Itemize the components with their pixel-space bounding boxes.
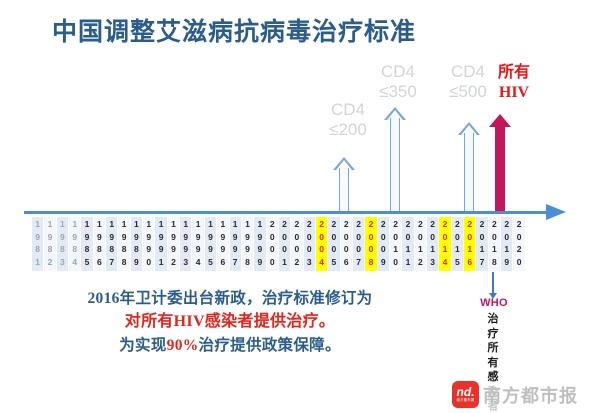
year-digit: 2 bbox=[430, 218, 435, 231]
timeline-year-1986: 1986 bbox=[94, 217, 106, 271]
year-digit: 2 bbox=[295, 218, 300, 231]
year-digit: 8 bbox=[122, 256, 127, 269]
year-digit: 1 bbox=[233, 218, 238, 231]
year-digit: 8 bbox=[97, 243, 102, 256]
arrow-shaft bbox=[390, 118, 400, 214]
year-digit: 2 bbox=[467, 218, 472, 231]
timeline-year-1994: 1994 bbox=[192, 217, 204, 271]
year-digit: 2 bbox=[171, 256, 176, 269]
slide-canvas: 中国调整艾滋病抗病毒治疗标准 CD4 ≤200 CD4 ≤350 CD4 ≤50… bbox=[0, 0, 600, 413]
year-digit: 9 bbox=[146, 243, 151, 256]
year-digit: 3 bbox=[307, 256, 312, 269]
year-digit: 0 bbox=[369, 243, 374, 256]
timeline-year-2019: 2019 bbox=[501, 217, 513, 271]
year-digit: 2 bbox=[406, 218, 411, 231]
year-digit: 0 bbox=[517, 231, 522, 244]
timeline-year-1990: 1990 bbox=[143, 217, 155, 271]
logo-subtext: 南方都市报 bbox=[457, 398, 475, 403]
year-digit: 8 bbox=[109, 243, 114, 256]
timeline-year-1995: 1995 bbox=[205, 217, 217, 271]
timeline-year-2017: 2017 bbox=[476, 217, 488, 271]
year-digit: 6 bbox=[344, 256, 349, 269]
year-digit: 0 bbox=[455, 231, 460, 244]
timeline-year-1982: 1982 bbox=[44, 217, 56, 271]
year-digit: 2 bbox=[517, 243, 522, 256]
year-digit: 9 bbox=[134, 256, 139, 269]
year-digit: 2 bbox=[319, 218, 324, 231]
milestone-label-2014: CD4 ≤500 bbox=[446, 62, 490, 102]
year-digit: 8 bbox=[134, 243, 139, 256]
year-digit: 0 bbox=[369, 231, 374, 244]
timeline-year-1993: 1993 bbox=[180, 217, 192, 271]
year-digit: 4 bbox=[319, 256, 324, 269]
year-digit: 3 bbox=[60, 256, 65, 269]
milestone-label-2016: 所有 HIV bbox=[492, 63, 536, 103]
timeline-year-1981: 1981 bbox=[32, 217, 44, 271]
year-digit: 0 bbox=[307, 231, 312, 244]
year-digit: 9 bbox=[233, 231, 238, 244]
year-digit: 7 bbox=[356, 256, 361, 269]
arrow-shaft bbox=[339, 168, 349, 214]
year-digit: 0 bbox=[295, 243, 300, 256]
year-digit: 8 bbox=[492, 256, 497, 269]
year-digit: 9 bbox=[159, 243, 164, 256]
caption-line-3-post: 治疗提供政策保障。 bbox=[199, 337, 341, 354]
year-digit: 1 bbox=[282, 256, 287, 269]
year-digit: 1 bbox=[171, 218, 176, 231]
year-digit: 9 bbox=[208, 243, 213, 256]
timeline-year-1989: 1989 bbox=[131, 217, 143, 271]
year-digit: 4 bbox=[443, 256, 448, 269]
year-digit: 0 bbox=[282, 243, 287, 256]
year-digit: 0 bbox=[282, 231, 287, 244]
year-digit: 9 bbox=[146, 231, 151, 244]
year-digit: 1 bbox=[35, 256, 40, 269]
timeline: 1981198219831984198519861987198819891990… bbox=[24, 211, 576, 273]
year-digit: 1 bbox=[122, 218, 127, 231]
year-digit: 2 bbox=[504, 218, 509, 231]
timeline-year-2016: 2016 bbox=[464, 217, 476, 271]
year-digit: 2 bbox=[307, 218, 312, 231]
year-digit: 0 bbox=[270, 243, 275, 256]
year-digit: 2 bbox=[356, 218, 361, 231]
year-digit: 1 bbox=[60, 218, 65, 231]
year-digit: 9 bbox=[381, 256, 386, 269]
year-digit: 1 bbox=[97, 218, 102, 231]
year-digit: 8 bbox=[48, 243, 53, 256]
year-digit: 1 bbox=[183, 218, 188, 231]
year-digit: 0 bbox=[295, 231, 300, 244]
year-digit: 0 bbox=[443, 231, 448, 244]
who-vertical-char: 所 bbox=[479, 341, 507, 356]
year-digit: 9 bbox=[60, 231, 65, 244]
year-digit: 3 bbox=[430, 256, 435, 269]
who-label: WHO bbox=[474, 297, 514, 309]
timeline-year-1991: 1991 bbox=[155, 217, 167, 271]
year-digit: 0 bbox=[319, 243, 324, 256]
timeline-year-2002: 2002 bbox=[291, 217, 303, 271]
year-digit: 7 bbox=[480, 256, 485, 269]
year-digit: 9 bbox=[122, 231, 127, 244]
timeline-year-2009: 2009 bbox=[378, 217, 390, 271]
year-digit: 6 bbox=[220, 256, 225, 269]
nandu-logo-icon: nd. 南方都市报 bbox=[452, 381, 479, 408]
year-digit: 1 bbox=[443, 243, 448, 256]
timeline-year-2001: 2001 bbox=[279, 217, 291, 271]
arrow-shaft bbox=[464, 133, 474, 214]
milestone-label-2008: CD4 ≤350 bbox=[376, 62, 420, 102]
year-digit: 0 bbox=[406, 231, 411, 244]
year-digit: 0 bbox=[146, 256, 151, 269]
year-digit: 9 bbox=[171, 243, 176, 256]
year-digit: 1 bbox=[406, 243, 411, 256]
year-digit: 9 bbox=[134, 231, 139, 244]
year-digit: 9 bbox=[196, 243, 201, 256]
timeline-year-2020: 2020 bbox=[513, 217, 525, 271]
year-digit: 0 bbox=[418, 231, 423, 244]
timeline-year-2007: 2007 bbox=[353, 217, 365, 271]
year-digit: 7 bbox=[233, 256, 238, 269]
year-digit: 9 bbox=[220, 231, 225, 244]
timeline-year-2014: 2014 bbox=[439, 217, 451, 271]
year-digit: 1 bbox=[48, 218, 53, 231]
year-digit: 0 bbox=[344, 243, 349, 256]
timeline-year-2008: 2008 bbox=[365, 217, 377, 271]
year-digit: 1 bbox=[480, 243, 485, 256]
year-digit: 1 bbox=[467, 243, 472, 256]
year-digit: 8 bbox=[369, 256, 374, 269]
year-digit: 1 bbox=[393, 243, 398, 256]
year-digit: 9 bbox=[220, 243, 225, 256]
year-digit: 2 bbox=[48, 256, 53, 269]
timeline-year-1985: 1985 bbox=[81, 217, 93, 271]
year-digit: 2 bbox=[344, 218, 349, 231]
year-digit: 0 bbox=[504, 231, 509, 244]
year-digit: 2 bbox=[418, 256, 423, 269]
year-digit: 8 bbox=[122, 243, 127, 256]
year-digit: 9 bbox=[233, 243, 238, 256]
year-digit: 1 bbox=[159, 256, 164, 269]
year-digit: 1 bbox=[257, 218, 262, 231]
year-digit: 2 bbox=[282, 218, 287, 231]
year-digit: 9 bbox=[159, 231, 164, 244]
year-digit: 1 bbox=[196, 218, 201, 231]
who-vertical-char: 有 bbox=[479, 356, 507, 371]
year-digit: 1 bbox=[159, 218, 164, 231]
year-digit: 9 bbox=[208, 231, 213, 244]
year-digit: 0 bbox=[332, 231, 337, 244]
timeline-year-1987: 1987 bbox=[106, 217, 118, 271]
year-digit: 9 bbox=[35, 231, 40, 244]
timeline-axis bbox=[24, 211, 549, 214]
caption-line-2: 对所有HIV感染者提供治疗。 bbox=[0, 310, 460, 333]
who-vertical-char: 治 bbox=[479, 312, 507, 327]
year-digit: 1 bbox=[504, 243, 509, 256]
timeline-year-1999: 1999 bbox=[254, 217, 266, 271]
year-digit: 8 bbox=[60, 243, 65, 256]
year-digit: 0 bbox=[319, 231, 324, 244]
caption-block: 2016年卫计委出台新政，治疗标准修订为 对所有HIV感染者提供治疗。 为实现9… bbox=[0, 288, 460, 358]
year-digit: 0 bbox=[381, 231, 386, 244]
timeline-year-1983: 1983 bbox=[57, 217, 69, 271]
timeline-year-1996: 1996 bbox=[217, 217, 229, 271]
timeline-year-2018: 2018 bbox=[489, 217, 501, 271]
year-digit: 1 bbox=[208, 218, 213, 231]
caption-line-1: 2016年卫计委出台新政，治疗标准修订为 bbox=[0, 288, 460, 310]
year-digit: 5 bbox=[332, 256, 337, 269]
timeline-axis-arrow-icon bbox=[546, 204, 566, 220]
arrow-shaft bbox=[495, 125, 505, 214]
year-digit: 1 bbox=[245, 218, 250, 231]
year-digit: 4 bbox=[72, 256, 77, 269]
year-digit: 9 bbox=[48, 231, 53, 244]
year-digit: 6 bbox=[467, 256, 472, 269]
year-digit: 0 bbox=[344, 231, 349, 244]
year-digit: 0 bbox=[467, 231, 472, 244]
year-digit: 1 bbox=[72, 218, 77, 231]
year-digit: 9 bbox=[97, 231, 102, 244]
year-digit: 0 bbox=[270, 256, 275, 269]
logo-mark: nd. bbox=[457, 387, 475, 398]
year-digit: 8 bbox=[85, 243, 90, 256]
year-digit: 3 bbox=[183, 256, 188, 269]
year-digit: 2 bbox=[418, 218, 423, 231]
caption-line-3: 为实现90%治疗提供政策保障。 bbox=[0, 333, 460, 358]
year-digit: 0 bbox=[393, 256, 398, 269]
year-digit: 1 bbox=[109, 218, 114, 231]
timeline-year-2015: 2015 bbox=[452, 217, 464, 271]
watermark-text: 南方都市报 bbox=[483, 382, 578, 408]
year-digit: 0 bbox=[381, 243, 386, 256]
timeline-year-2010: 2010 bbox=[390, 217, 402, 271]
year-digit: 2 bbox=[270, 218, 275, 231]
year-digit: 2 bbox=[295, 256, 300, 269]
timeline-year-2004: 2004 bbox=[316, 217, 328, 271]
year-digit: 7 bbox=[109, 256, 114, 269]
year-digit: 9 bbox=[183, 243, 188, 256]
who-connector-line bbox=[492, 272, 494, 294]
year-digit: 1 bbox=[146, 218, 151, 231]
year-digit: 1 bbox=[492, 243, 497, 256]
year-digit: 9 bbox=[504, 256, 509, 269]
year-digit: 8 bbox=[35, 243, 40, 256]
timeline-year-1988: 1988 bbox=[118, 217, 130, 271]
year-digit: 9 bbox=[183, 231, 188, 244]
year-digit: 2 bbox=[369, 218, 374, 231]
timeline-year-2000: 2000 bbox=[267, 217, 279, 271]
timeline-year-2006: 2006 bbox=[341, 217, 353, 271]
timeline-year-2013: 2013 bbox=[427, 217, 439, 271]
timeline-year-1998: 1998 bbox=[242, 217, 254, 271]
year-digit: 1 bbox=[134, 218, 139, 231]
year-digit: 0 bbox=[430, 231, 435, 244]
year-digit: 9 bbox=[196, 231, 201, 244]
year-digit: 0 bbox=[356, 243, 361, 256]
year-digit: 2 bbox=[517, 218, 522, 231]
year-digit: 0 bbox=[332, 243, 337, 256]
year-digit: 0 bbox=[307, 243, 312, 256]
milestone-label-2004: CD4 ≤200 bbox=[326, 100, 370, 140]
year-digit: 9 bbox=[171, 231, 176, 244]
watermark: nd. 南方都市报 南方都市报 bbox=[452, 381, 578, 408]
timeline-year-1997: 1997 bbox=[230, 217, 242, 271]
year-digit: 9 bbox=[245, 243, 250, 256]
year-digit: 0 bbox=[270, 231, 275, 244]
year-digit: 2 bbox=[443, 218, 448, 231]
year-digit: 9 bbox=[257, 243, 262, 256]
year-digit: 5 bbox=[208, 256, 213, 269]
year-digit: 1 bbox=[85, 218, 90, 231]
timeline-year-2005: 2005 bbox=[328, 217, 340, 271]
year-digit: 0 bbox=[480, 231, 485, 244]
year-digit: 2 bbox=[381, 218, 386, 231]
who-vertical-char: 疗 bbox=[479, 327, 507, 342]
year-digit: 1 bbox=[418, 243, 423, 256]
year-digit: 0 bbox=[393, 231, 398, 244]
timeline-year-1992: 1992 bbox=[168, 217, 180, 271]
timeline-year-2003: 2003 bbox=[304, 217, 316, 271]
year-digit: 2 bbox=[393, 218, 398, 231]
year-digit: 1 bbox=[455, 243, 460, 256]
year-digit: 2 bbox=[455, 218, 460, 231]
year-digit: 2 bbox=[332, 218, 337, 231]
year-digit: 9 bbox=[72, 231, 77, 244]
year-digit: 6 bbox=[97, 256, 102, 269]
year-digit: 9 bbox=[245, 231, 250, 244]
page-title: 中国调整艾滋病抗病毒治疗标准 bbox=[52, 12, 416, 48]
year-digit: 1 bbox=[35, 218, 40, 231]
year-digit: 9 bbox=[257, 256, 262, 269]
year-digit: 9 bbox=[85, 231, 90, 244]
caption-line-3-emphasis: 90% bbox=[167, 337, 199, 354]
year-digit: 9 bbox=[109, 231, 114, 244]
year-digit: 1 bbox=[406, 256, 411, 269]
year-digit: 1 bbox=[220, 218, 225, 231]
year-digit: 0 bbox=[517, 256, 522, 269]
year-digit: 9 bbox=[257, 231, 262, 244]
year-digit: 0 bbox=[356, 231, 361, 244]
year-digit: 8 bbox=[245, 256, 250, 269]
year-digit: 8 bbox=[72, 243, 77, 256]
year-digit: 5 bbox=[85, 256, 90, 269]
year-digit: 0 bbox=[492, 231, 497, 244]
timeline-year-2012: 2012 bbox=[415, 217, 427, 271]
year-digit: 4 bbox=[196, 256, 201, 269]
year-digit: 2 bbox=[480, 218, 485, 231]
timeline-year-2011: 2011 bbox=[402, 217, 414, 271]
year-digit: 1 bbox=[430, 243, 435, 256]
year-digit: 5 bbox=[455, 256, 460, 269]
timeline-year-1984: 1984 bbox=[69, 217, 81, 271]
year-digit: 2 bbox=[492, 218, 497, 231]
caption-line-3-pre: 为实现 bbox=[119, 337, 166, 354]
timeline-year-list: 1981198219831984198519861987198819891990… bbox=[32, 217, 526, 271]
